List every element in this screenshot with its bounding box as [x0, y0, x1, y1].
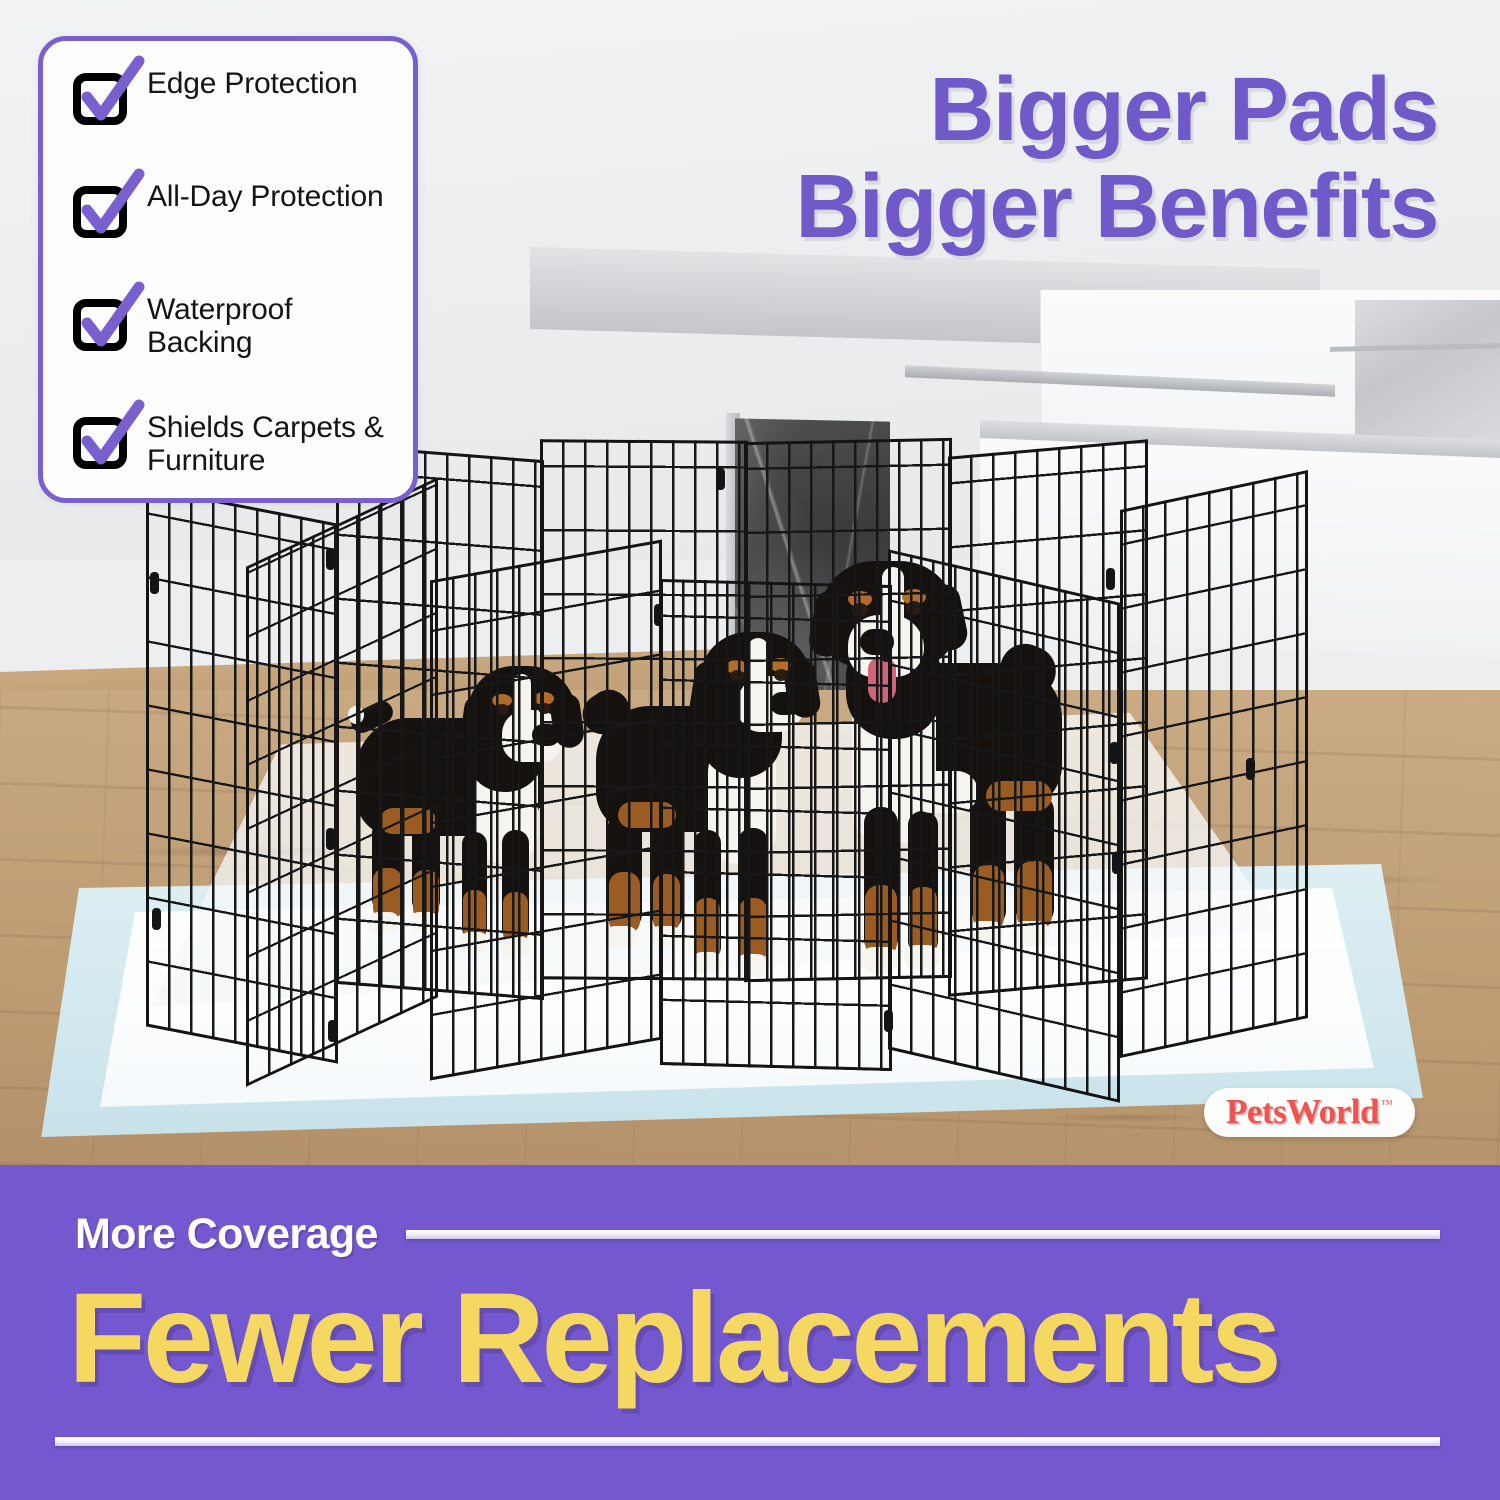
- banner-eyebrow: More Coverage: [75, 1210, 378, 1259]
- feature-label: Shields Carpets & Furniture: [147, 409, 393, 478]
- pen-frame: [888, 549, 1120, 1103]
- feature-row-3: Shields Carpets & Furniture: [69, 409, 393, 478]
- pen-hinge-13: [152, 908, 161, 930]
- pen-hinge-4: [1106, 568, 1115, 590]
- banner-headline: Fewer Replacements: [68, 1275, 1440, 1403]
- feature-row-1: All-Day Protection: [69, 178, 393, 242]
- pen-frame: [246, 477, 438, 1087]
- checkbox-check-icon: [69, 69, 131, 129]
- pen-hinge-10: [654, 604, 663, 626]
- banner-rule-top: [406, 1230, 1440, 1239]
- product-photo-scene: Edge Protection All-Day Protection: [0, 0, 1500, 1165]
- headline-line-2: Bigger Benefits: [718, 159, 1438, 256]
- pen-panel-front-right: [888, 549, 1120, 1103]
- pen-hinge-3: [716, 468, 725, 490]
- pen-frame: [660, 579, 892, 1071]
- pen-frame: [1120, 470, 1308, 1058]
- pen-hinge-9: [884, 1010, 893, 1032]
- pen-panel-front-left: [430, 540, 662, 1081]
- pen-hinge-8: [882, 640, 891, 662]
- feature-label: Edge Protection: [147, 65, 357, 101]
- trademark-symbol: ™: [1381, 1097, 1393, 1112]
- feature-row-0: Edge Protection: [69, 65, 393, 129]
- pen-frame: [430, 540, 662, 1081]
- checkbox-check-icon: [69, 413, 131, 473]
- pen-hinge-12: [150, 572, 159, 594]
- pen-hinge-11: [328, 1020, 337, 1042]
- brand-name: PetsWorld: [1226, 1094, 1379, 1129]
- headline-line-1: Bigger Pads: [929, 60, 1438, 160]
- feature-label: Waterproof Backing: [147, 291, 393, 360]
- checkbox-check-icon: [69, 182, 131, 242]
- bottom-banner: More Coverage Fewer Replacements: [0, 1165, 1500, 1500]
- pen-hinge-7: [1246, 758, 1255, 780]
- pen-panel-right: [1120, 470, 1308, 1058]
- feature-row-2: Waterproof Backing: [69, 291, 393, 360]
- banner-rule-bottom: [55, 1437, 1440, 1446]
- pen-panel-front-center: [660, 579, 892, 1071]
- headline: Bigger Pads Bigger Benefits: [718, 62, 1438, 256]
- pen-panel-left: [246, 477, 438, 1087]
- features-card: Edge Protection All-Day Protection: [38, 36, 418, 503]
- banner-eyebrow-row: More Coverage: [75, 1210, 1440, 1259]
- brand-logo: PetsWorld ™: [1204, 1088, 1415, 1137]
- checkbox-check-icon: [69, 295, 131, 355]
- product-marketing-image: Edge Protection All-Day Protection: [0, 0, 1500, 1500]
- feature-label: All-Day Protection: [147, 178, 384, 214]
